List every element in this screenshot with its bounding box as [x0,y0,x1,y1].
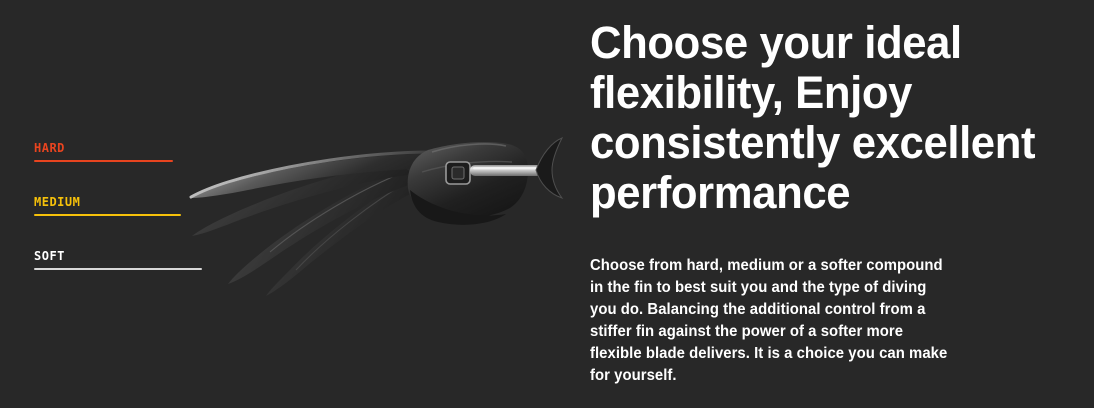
flex-option-hard[interactable]: HARD [34,141,173,162]
page-title: Choose your ideal flexibility, Enjoy con… [590,18,1063,218]
fin-blade-highlight [191,152,434,197]
flex-option-medium[interactable]: MEDIUM [34,195,181,216]
fin-buckle [446,162,470,184]
fin-pocket-seam [422,161,512,172]
flex-option-soft-label: SOFT [34,249,202,263]
fin-foot-pocket [408,142,528,218]
fin-buckle-inner [452,167,464,179]
fin-strap-bar [470,165,542,176]
fin-blade-hard [190,154,450,198]
flex-option-soft-rule [34,268,202,270]
fin-heel-strap [536,138,562,198]
fin-blade-medium [228,170,418,284]
flexibility-selector: HARD MEDIUM SOFT [0,0,570,408]
promo-copy: Choose your ideal flexibility, Enjoy con… [590,0,1080,408]
fin-blade-medium-edge [270,172,404,252]
fin-strap-bar-highlight [473,167,539,169]
flex-option-hard-label: HARD [34,141,173,155]
promo-body-text: Choose from hard, medium or a softer com… [590,255,955,387]
flex-option-soft[interactable]: SOFT [34,249,202,270]
flexibility-promo-section: HARD MEDIUM SOFT [0,0,1094,408]
flex-option-hard-rule [34,160,173,162]
flex-option-medium-label: MEDIUM [34,195,181,209]
diving-fin-image [170,110,570,300]
fin-blade-soft [266,178,422,296]
fin-blade-soft-edge [296,180,410,270]
fin-blade-hard-lower [192,162,414,236]
flex-option-medium-rule [34,214,181,216]
fin-pocket-sole [410,190,506,225]
fin-pocket-highlight [432,144,506,152]
